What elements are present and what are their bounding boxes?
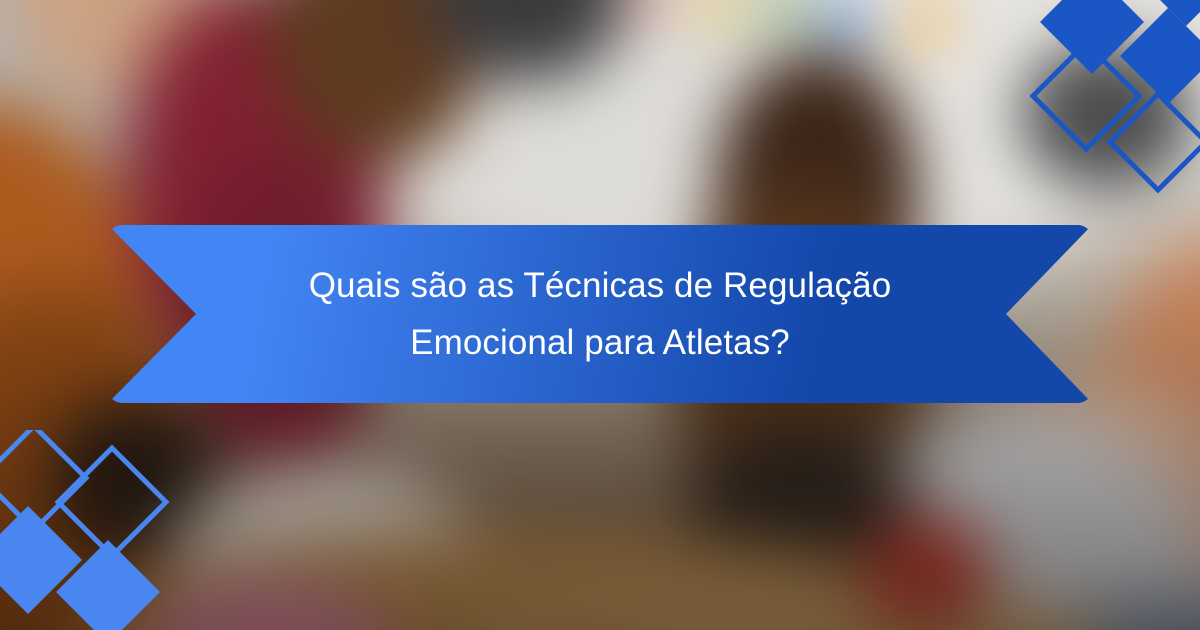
page-title-line-2: Emocional para Atletas?	[410, 317, 790, 368]
page-title-line-1: Quais são as Técnicas de Regulação	[309, 260, 892, 311]
share-card: Quais são as Técnicas de Regulação Emoci…	[0, 0, 1200, 630]
title-ribbon: Quais são as Técnicas de Regulação Emoci…	[108, 225, 1092, 403]
title-ribbon-text: Quais são as Técnicas de Regulação Emoci…	[108, 225, 1092, 403]
